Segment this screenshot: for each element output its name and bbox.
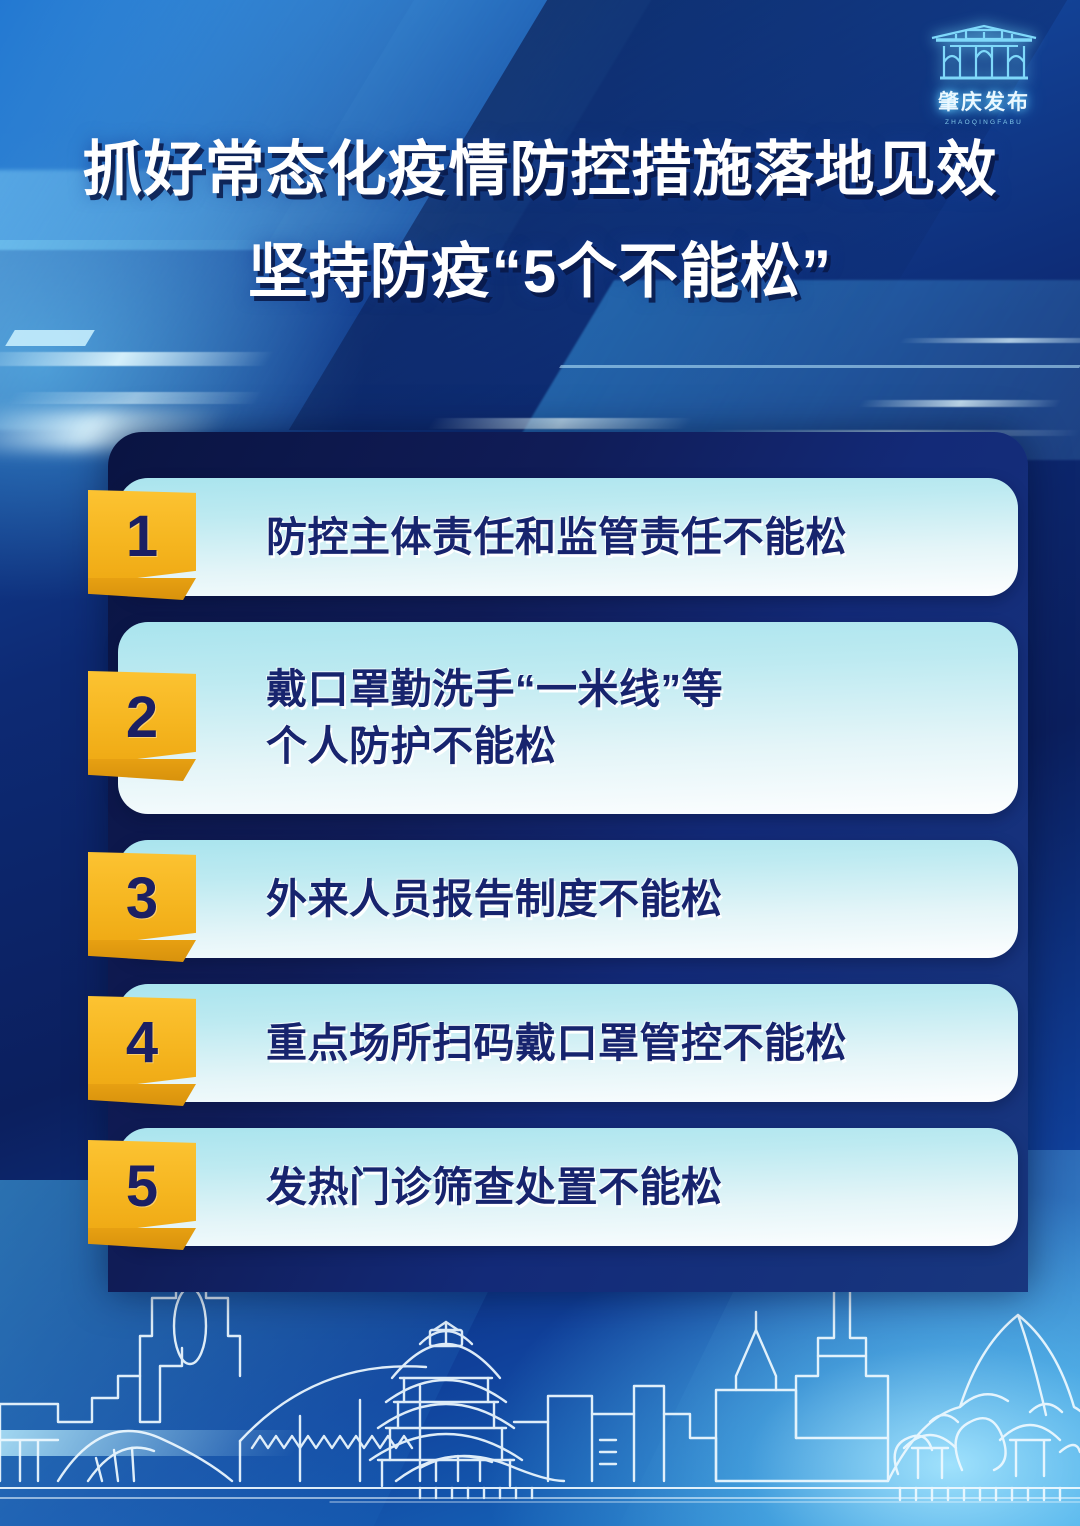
item-number: 1 (88, 490, 196, 584)
item-text: 防控主体责任和监管责任不能松 (118, 509, 873, 566)
item-number: 5 (88, 1140, 196, 1234)
bg-light-streak (6, 392, 263, 404)
item-number: 4 (88, 996, 196, 1090)
item-number-tab: 2 (88, 671, 196, 765)
poster-root: 肇庆发布 ZHAOQINGFABU 抓好常态化疫情防控措施落地见效 坚持防疫“5… (0, 0, 1080, 1526)
item-text-line-1: 防控主体责任和监管责任不能松 (266, 509, 847, 566)
item-card: 重点场所扫码戴口罩管控不能松 (118, 984, 1018, 1102)
bg-chip (559, 365, 1080, 368)
item-number: 3 (88, 852, 196, 946)
item-card: 戴口罩勤洗手“一米线”等 个人防护不能松 (118, 622, 1018, 814)
item-number-tab: 1 (88, 490, 196, 584)
item-card: 外来人员报告制度不能松 (118, 840, 1018, 958)
item-text: 戴口罩勤洗手“一米线”等 个人防护不能松 (118, 661, 749, 774)
item-number-tab: 5 (88, 1140, 196, 1234)
bg-light-streak (898, 338, 1080, 343)
headline-line-2: 坚持防疫“5个不能松” (0, 242, 1080, 302)
headline-block: 抓好常态化疫情防控措施落地见效 坚持防疫“5个不能松” (0, 140, 1080, 302)
item-number-tab: 4 (88, 996, 196, 1090)
item-number-tab: 3 (88, 852, 196, 946)
item-text: 重点场所扫码戴口罩管控不能松 (118, 1015, 873, 1072)
list-item[interactable]: 1 防控主体责任和监管责任不能松 (88, 478, 1018, 596)
list-item[interactable]: 4 重点场所扫码戴口罩管控不能松 (88, 984, 1018, 1102)
bg-light-streak (0, 352, 274, 366)
headline-line-1: 抓好常态化疫情防控措施落地见效 (0, 140, 1080, 200)
bg-light-streak (427, 418, 694, 429)
measures-list: 1 防控主体责任和监管责任不能松 2 戴口罩勤洗手“一米线”等 个人防护不能松 (88, 478, 1018, 1272)
logo-name-en: ZHAOQINGFABU (918, 119, 1050, 126)
list-item[interactable]: 5 发热门诊筛查处置不能松 (88, 1128, 1018, 1246)
item-text: 发热门诊筛查处置不能松 (118, 1159, 749, 1216)
logo-name-cn: 肇庆发布 (918, 86, 1050, 116)
list-item[interactable]: 2 戴口罩勤洗手“一米线”等 个人防护不能松 (88, 622, 1018, 814)
bg-chip (5, 330, 95, 346)
list-item[interactable]: 3 外来人员报告制度不能松 (88, 840, 1018, 958)
item-card: 防控主体责任和监管责任不能松 (118, 478, 1018, 596)
item-text-line-1: 发热门诊筛查处置不能松 (266, 1159, 723, 1216)
item-text: 外来人员报告制度不能松 (118, 871, 749, 928)
bg-light-streak (858, 400, 1062, 407)
item-text-line-1: 重点场所扫码戴口罩管控不能松 (266, 1015, 847, 1072)
item-number: 2 (88, 671, 196, 765)
item-text-line-2: 个人防护不能松 (266, 718, 723, 775)
item-text-line-1: 外来人员报告制度不能松 (266, 871, 723, 928)
paifang-archway-icon (926, 22, 1042, 84)
brand-logo: 肇庆发布 ZHAOQINGFABU (918, 22, 1050, 126)
item-card: 发热门诊筛查处置不能松 (118, 1128, 1018, 1246)
item-text-line-1: 戴口罩勤洗手“一米线”等 (266, 661, 723, 718)
